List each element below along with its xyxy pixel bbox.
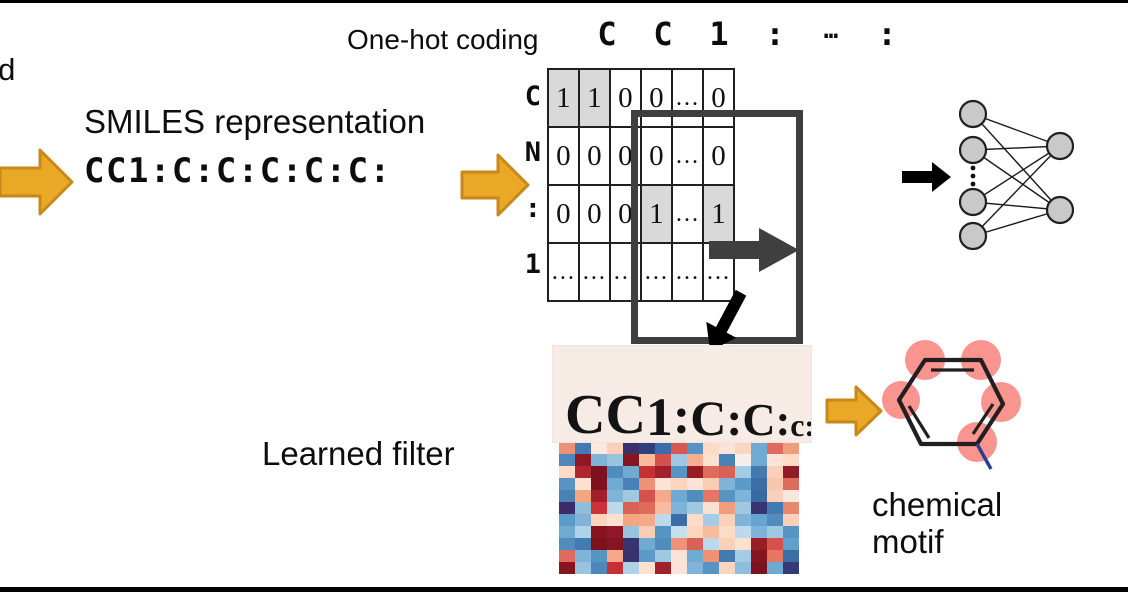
heatmap-cell: [575, 550, 591, 562]
heatmap-cell: [687, 478, 703, 490]
matrix-row-header: :: [519, 180, 547, 236]
heatmap-cell: [639, 526, 655, 538]
arrow-matrix-to-filter-icon: [686, 288, 766, 354]
network-edges: [973, 114, 1060, 236]
heatmap-cell: [559, 454, 575, 466]
heatmap-cell: [671, 514, 687, 526]
heatmap-cell: [623, 538, 639, 550]
matrix-cell: …: [672, 69, 703, 127]
heatmap-cell: [575, 478, 591, 490]
heatmap-cell: [655, 502, 671, 514]
heatmap-cell: [703, 490, 719, 502]
learned-filter-panel: CC1:C:C:c:c:C: [553, 346, 811, 574]
matrix-grid-wrapper: C N : 1 1 1 0 0 … 0 0 0: [519, 68, 735, 302]
heatmap-cell: [559, 550, 575, 562]
sequence-logo-char: :: [776, 404, 791, 438]
heatmap-cell: [623, 514, 639, 526]
matrix-col-header: :: [859, 18, 915, 50]
matrix-row-headers: C N : 1: [519, 68, 547, 302]
heatmap-cell: [575, 514, 591, 526]
heatmap-cell: [591, 478, 607, 490]
figure-canvas: al und SMILES representation CC1:C:C:C:C…: [0, 0, 1128, 592]
heatmap-cell: [783, 550, 799, 562]
heatmap-cell: [751, 562, 767, 574]
heatmap-cell: [751, 526, 767, 538]
heatmap-cell: [575, 454, 591, 466]
matrix-cell: …: [672, 127, 703, 185]
one-hot-coding-title: One-hot coding: [347, 24, 538, 55]
heatmap-cell: [559, 478, 575, 490]
heatmap-cell: [719, 442, 735, 454]
heatmap-cell: [559, 490, 575, 502]
heatmap-cell: [687, 550, 703, 562]
heatmap-cell: [671, 526, 687, 538]
heatmap-cell: [559, 538, 575, 550]
chemical-motif-label: chemical motif: [872, 487, 1002, 561]
heatmap-cell: [687, 454, 703, 466]
heatmap-cell: [655, 514, 671, 526]
matrix-cell: 0: [610, 185, 641, 243]
heatmap-cell: [719, 478, 735, 490]
heatmap-cell: [591, 562, 607, 574]
network-vertical-ellipsis-icon: [971, 166, 976, 187]
matrix-column-headers: C C 1 : … :: [579, 18, 915, 50]
sequence-logo-char: C: [742, 402, 775, 438]
heatmap-cell: [639, 538, 655, 550]
heatmap-cell: [575, 526, 591, 538]
matrix-col-header: :: [747, 18, 803, 50]
heatmap-cell: [559, 562, 575, 574]
heatmap-cell: [639, 514, 655, 526]
heatmap-cell: [575, 442, 591, 454]
arrow-compound-to-smiles-icon: [0, 146, 74, 218]
matrix-col-header: 1: [691, 18, 747, 50]
matrix-cell: 1: [579, 69, 610, 127]
heatmap-cell: [735, 490, 751, 502]
heatmap-cell: [559, 442, 575, 454]
heatmap-cell: [735, 478, 751, 490]
heatmap-cell: [751, 466, 767, 478]
sequence-logo-char: :: [804, 414, 811, 438]
heatmap-cell: [703, 478, 719, 490]
learned-filter-label: Learned filter: [262, 436, 455, 473]
matrix-cell: …: [641, 243, 672, 301]
heatmap-cell: [703, 466, 719, 478]
heatmap-cell: [623, 562, 639, 574]
heatmap-cell: [703, 514, 719, 526]
heatmap-cell: [607, 550, 623, 562]
heatmap-cell: [623, 502, 639, 514]
matrix-cell: 0: [610, 69, 641, 127]
heatmap-cell: [687, 466, 703, 478]
sequence-logo-char: :: [726, 401, 742, 438]
heatmap-cell: [767, 442, 783, 454]
matrix-cell: …: [548, 243, 579, 301]
heatmap-cell: [735, 454, 751, 466]
heatmap-cell: [671, 550, 687, 562]
heatmap-cell: [591, 526, 607, 538]
heatmap-cell: [735, 538, 751, 550]
heatmap-cell: [607, 538, 623, 550]
heatmap-cell: [767, 562, 783, 574]
heatmap-cell: [575, 466, 591, 478]
heatmap-cell: [623, 454, 639, 466]
heatmap-cell: [783, 502, 799, 514]
sequence-logo-char: :: [673, 397, 690, 438]
heatmap-cell: [719, 502, 735, 514]
heatmap-cell: [735, 514, 751, 526]
smiles-string: CC1:C:C:C:C:C:: [84, 152, 392, 190]
matrix-cell: …: [579, 243, 610, 301]
sequence-logo-char: C: [690, 399, 726, 438]
heatmap-cell: [639, 466, 655, 478]
heatmap-cell: [687, 514, 703, 526]
heatmap-cell: [671, 454, 687, 466]
heatmap-cell: [607, 478, 623, 490]
matrix-cell: …: [610, 243, 641, 301]
heatmap-cell: [639, 562, 655, 574]
heatmap-cell: [671, 478, 687, 490]
heatmap-cell: [783, 442, 799, 454]
heatmap-cell: [735, 550, 751, 562]
heatmap-cell: [623, 466, 639, 478]
heatmap-cell: [559, 502, 575, 514]
heatmap-cell: [639, 502, 655, 514]
heatmap-cell: [655, 466, 671, 478]
heatmap-cell: [655, 490, 671, 502]
matrix-table: 1 1 0 0 … 0 0 0 0 0 … 0: [547, 68, 735, 302]
arrow-matrix-to-network-icon: [902, 162, 952, 192]
heatmap-cell: [703, 562, 719, 574]
heatmap-cell: [719, 550, 735, 562]
matrix-cell: 0: [641, 127, 672, 185]
heatmap-cell: [623, 478, 639, 490]
sequence-logo-char: c: [790, 413, 804, 438]
heatmap-cell: [591, 442, 607, 454]
heatmap-cell: [783, 454, 799, 466]
heatmap-cell: [575, 490, 591, 502]
heatmap-cell: [703, 526, 719, 538]
heatmap-cell: [735, 502, 751, 514]
heatmap-cell: [735, 466, 751, 478]
matrix-cell: 0: [548, 185, 579, 243]
matrix-row-header: 1: [519, 236, 547, 292]
heatmap-cell: [783, 514, 799, 526]
heatmap-cell: [687, 562, 703, 574]
matrix-row-header: C: [519, 68, 547, 124]
heatmap-cell: [607, 442, 623, 454]
heatmap-cell: [719, 490, 735, 502]
heatmap-cell: [783, 562, 799, 574]
heatmap-cell: [783, 466, 799, 478]
heatmap-cell: [591, 538, 607, 550]
matrix-body: 1 1 0 0 … 0 0 0 0 0 … 0: [548, 69, 734, 301]
heatmap-cell: [719, 538, 735, 550]
heatmap-cell: [735, 442, 751, 454]
matrix-cell: 0: [579, 185, 610, 243]
heatmap-cell: [767, 466, 783, 478]
matrix-col-header: …: [803, 18, 859, 50]
network-nodes: [960, 101, 1073, 249]
heatmap-cell: [767, 526, 783, 538]
heatmap-cell: [639, 490, 655, 502]
heatmap-cell: [655, 478, 671, 490]
matrix-col-header: C: [579, 18, 635, 50]
sequence-logo-char: C: [605, 394, 645, 438]
heatmap-cell: [719, 562, 735, 574]
heatmap-cell: [687, 490, 703, 502]
heatmap-cell: [751, 550, 767, 562]
sequence-logo-char: 1: [646, 396, 673, 438]
heatmap-cell: [655, 454, 671, 466]
heatmap-cell: [575, 562, 591, 574]
matrix-cell: 1: [548, 69, 579, 127]
heatmap-cell: [607, 502, 623, 514]
heatmap-cell: [687, 502, 703, 514]
heatmap-cell: [607, 526, 623, 538]
bottom-border: [0, 587, 1128, 592]
heatmap-cell: [639, 478, 655, 490]
heatmap-cell: [703, 454, 719, 466]
heatmap-cell: [767, 454, 783, 466]
matrix-cell: …: [672, 185, 703, 243]
heatmap-cell: [719, 514, 735, 526]
matrix-cell: 0: [703, 69, 734, 127]
heatmap-cell: [687, 526, 703, 538]
heatmap-cell: [783, 538, 799, 550]
heatmap-cell: [639, 550, 655, 562]
compound-label: al und: [0, 18, 15, 87]
heatmap-cell: [623, 490, 639, 502]
heatmap-cell: [607, 454, 623, 466]
matrix-cell: 0: [641, 69, 672, 127]
heatmap-cell: [767, 490, 783, 502]
heatmap-cell: [735, 526, 751, 538]
matrix-cell: 0: [703, 127, 734, 185]
sequence-logo-characters: CC1:C:C:c:c:C: [565, 394, 811, 438]
sequence-logo-char: C: [565, 394, 605, 438]
heatmap-cell: [687, 442, 703, 454]
heatmap-cell: [591, 502, 607, 514]
filter-weight-heatmap: [559, 442, 799, 574]
heatmap-cell: [767, 514, 783, 526]
heatmap-cell: [639, 454, 655, 466]
heatmap-cell: [783, 478, 799, 490]
heatmap-cell: [687, 538, 703, 550]
matrix-row-header: N: [519, 124, 547, 180]
heatmap-cell: [623, 550, 639, 562]
heatmap-cell: [751, 514, 767, 526]
heatmap-cell: [719, 466, 735, 478]
matrix-cell: 1: [641, 185, 672, 243]
sequence-logo: CC1:C:C:c:c:C: [553, 346, 811, 442]
heatmap-cell: [607, 466, 623, 478]
heatmap-cell: [559, 466, 575, 478]
heatmap-cell: [623, 442, 639, 454]
heatmap-cell: [591, 466, 607, 478]
heatmap-cell: [703, 550, 719, 562]
heatmap-cell: [751, 442, 767, 454]
heatmap-cell: [719, 454, 735, 466]
table-row: 0 0 0 1 … 1: [548, 185, 734, 243]
top-border: [0, 0, 1128, 3]
heatmap-cell: [575, 538, 591, 550]
heatmap-cell: [591, 550, 607, 562]
heatmap-cell: [703, 538, 719, 550]
heatmap-cell: [671, 466, 687, 478]
heatmap-cell: [655, 538, 671, 550]
heatmap-cell: [559, 514, 575, 526]
heatmap-cell: [767, 478, 783, 490]
heatmap-cell: [671, 538, 687, 550]
heatmap-cell: [575, 502, 591, 514]
heatmap-cell: [751, 490, 767, 502]
heatmap-cell: [639, 442, 655, 454]
heatmap-cell: [783, 526, 799, 538]
heatmap-cell: [751, 478, 767, 490]
heatmap-cell: [671, 562, 687, 574]
heatmap-cell: [591, 454, 607, 466]
heatmap-cell: [703, 442, 719, 454]
heatmap-cell: [719, 526, 735, 538]
table-row: 1 1 0 0 … 0: [548, 69, 734, 127]
heatmap-cell: [655, 550, 671, 562]
table-row: 0 0 0 0 … 0: [548, 127, 734, 185]
heatmap-cell: [703, 502, 719, 514]
heatmap-cell: [607, 490, 623, 502]
heatmap-cell: [751, 502, 767, 514]
matrix-cell: 0: [610, 127, 641, 185]
matrix-cell: 0: [548, 127, 579, 185]
matrix-cell: 0: [579, 127, 610, 185]
heatmap-cell: [767, 550, 783, 562]
chemical-motif-structure: [873, 338, 1033, 478]
heatmap-cell: [623, 526, 639, 538]
arrow-convolution-slide-icon: [709, 228, 801, 277]
heatmap-cell: [767, 538, 783, 550]
heatmap-cell: [767, 502, 783, 514]
smiles-representation-title: SMILES representation: [84, 104, 425, 141]
heatmap-cell: [735, 562, 751, 574]
heatmap-cell: [591, 514, 607, 526]
neural-network-diagram: [948, 98, 1088, 255]
heatmap-cell: [671, 502, 687, 514]
heatmap-cell: [671, 490, 687, 502]
heatmap-cell: [607, 562, 623, 574]
heatmap-cell: [607, 514, 623, 526]
heatmap-cell: [783, 490, 799, 502]
heatmap-cell: [655, 526, 671, 538]
matrix-col-header: C: [635, 18, 691, 50]
heatmap-cell: [751, 454, 767, 466]
heatmap-cell: [655, 442, 671, 454]
heatmap-cell: [591, 490, 607, 502]
heatmap-cell: [655, 562, 671, 574]
heatmap-cell: [751, 538, 767, 550]
heatmap-cell: [559, 526, 575, 538]
heatmap-cell: [671, 442, 687, 454]
